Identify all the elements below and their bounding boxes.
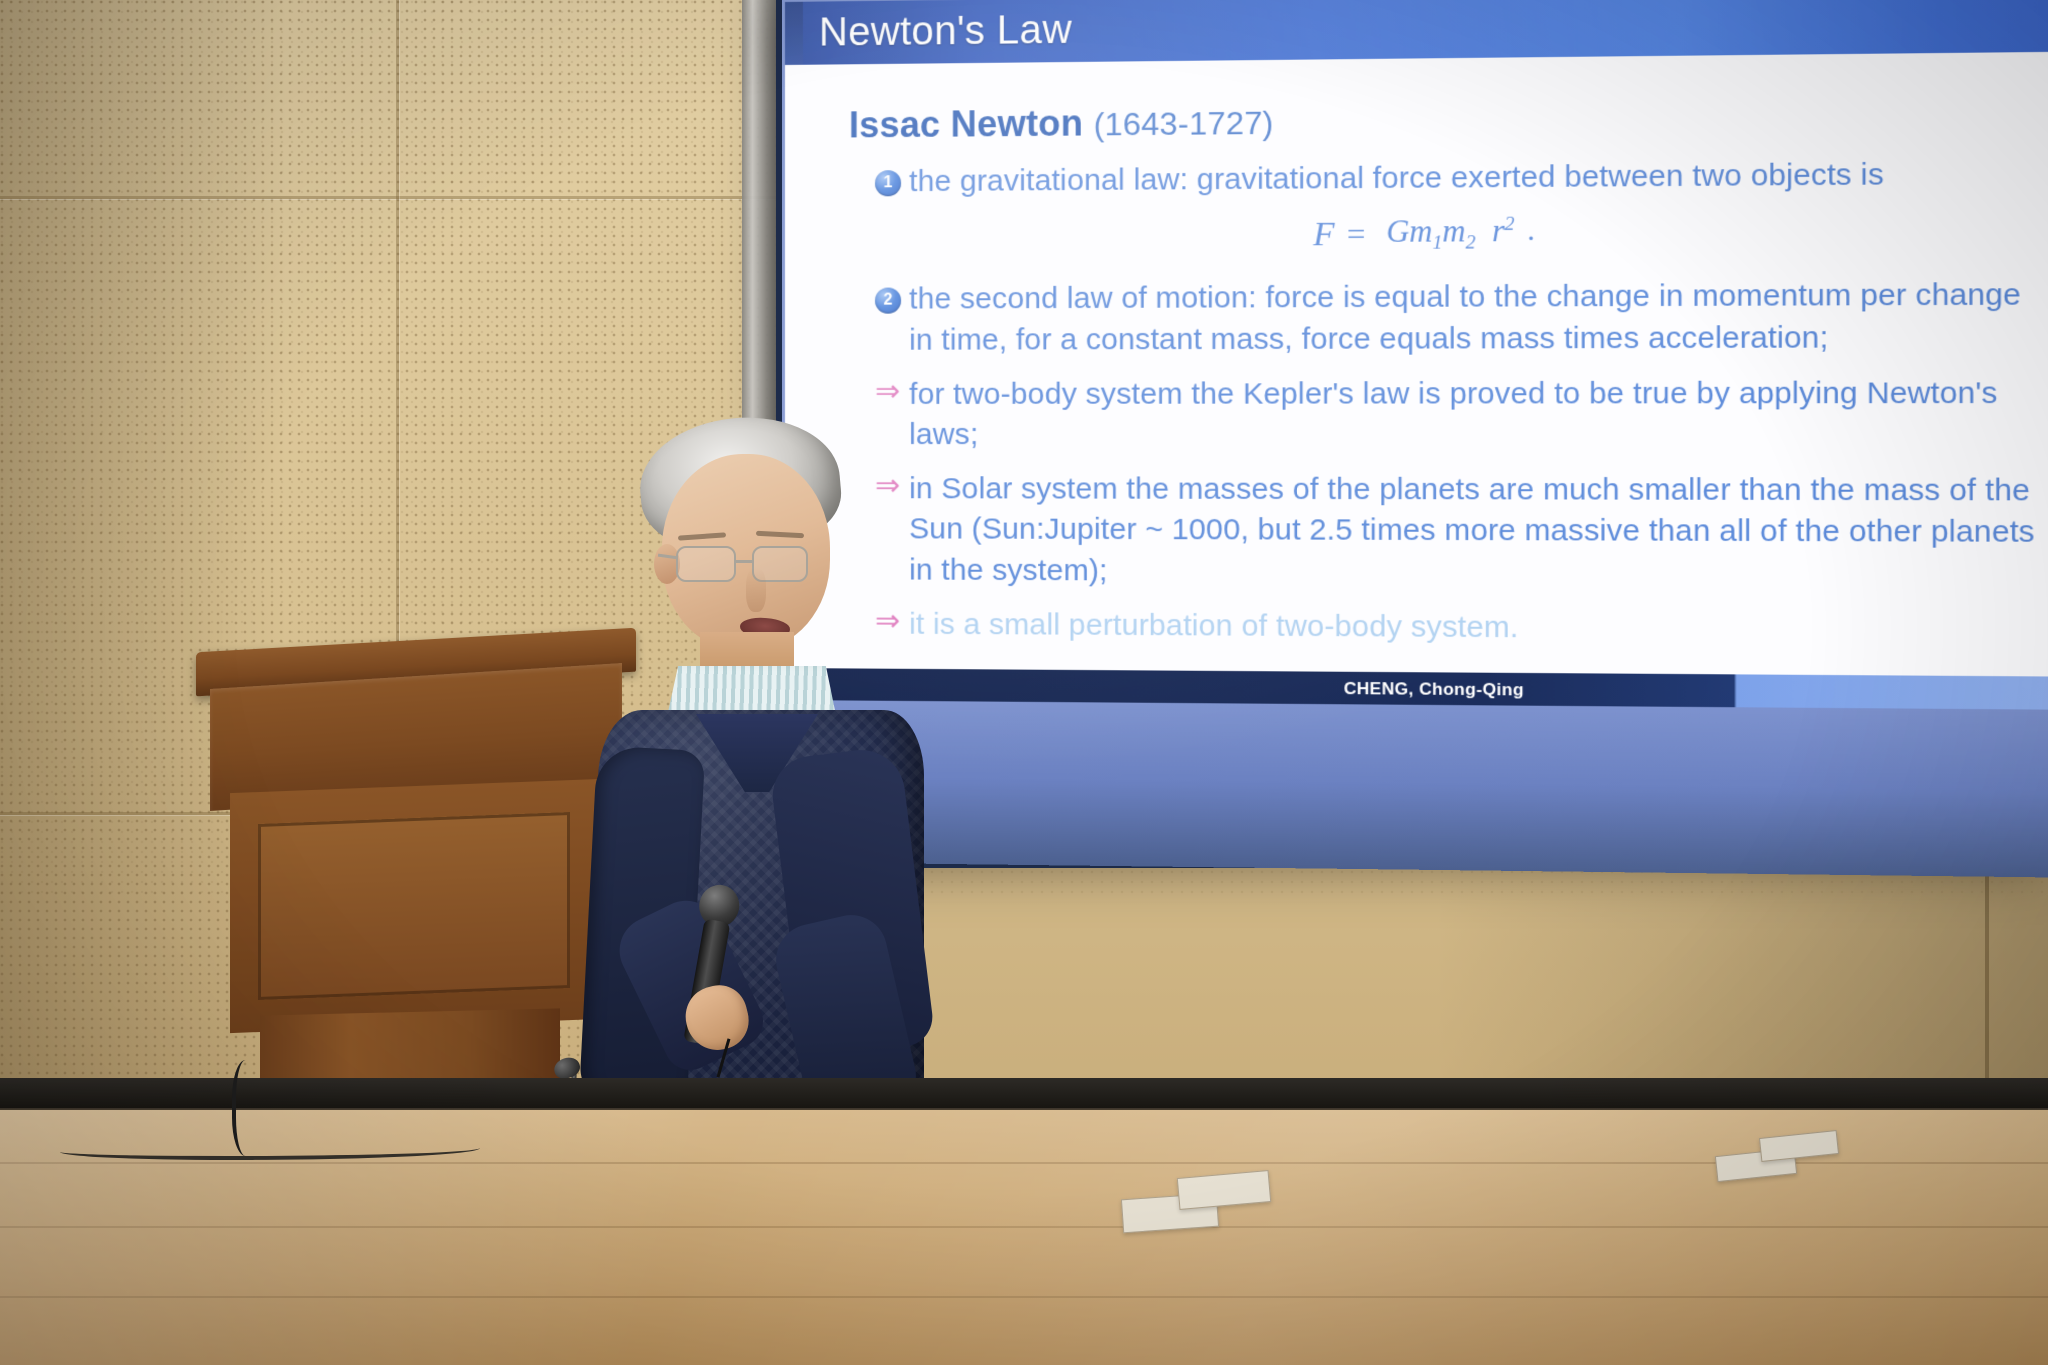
- numbered-bullet-marker: 1: [875, 162, 909, 203]
- list-item-text: it is a small perturbation of two-body s…: [909, 604, 2037, 651]
- projection-screen: Newton's Law Issac Newton (1643-1727) 1 …: [782, 0, 2048, 878]
- list-item: 2 the second law of motion: force is equ…: [875, 275, 2037, 361]
- glasses-lens-left: [676, 546, 736, 582]
- list-item-text: the second law of motion: force is equal…: [909, 275, 2037, 360]
- formula-lhs: F: [1313, 215, 1334, 254]
- newton-name: Issac Newton: [849, 102, 1083, 145]
- presenter-name: CHENG, Chong-Qing: [1344, 679, 1524, 701]
- list-item: ⇒ it is a small perturbation of two-body…: [875, 604, 2037, 651]
- formula-denominator: r2: [1486, 213, 1521, 249]
- gravitation-formula: F = Gm1m2 r2 .: [831, 210, 2037, 259]
- podium-front-panel: [258, 812, 570, 1000]
- numbered-bullet-marker: 2: [875, 280, 909, 361]
- stage-baseboard: [0, 1078, 2048, 1112]
- list-item-text: the gravitational law: gravitational for…: [909, 154, 2037, 203]
- formula-num-sub-1: 1: [1432, 233, 1442, 254]
- formula-equals: =: [1347, 216, 1366, 254]
- lecture-hall-photo: Newton's Law Issac Newton (1643-1727) 1 …: [0, 0, 2048, 1365]
- list-item: 1 the gravitational law: gravitational f…: [875, 154, 2037, 203]
- bullet-number-1: 1: [875, 170, 901, 196]
- formula-den-exponent: 2: [1505, 213, 1515, 234]
- bullet-number-2: 2: [875, 288, 901, 314]
- podium-cable: [232, 1060, 266, 1156]
- wall-seam-horizontal-upper: [0, 196, 790, 199]
- slide-title: Newton's Law: [785, 8, 1072, 56]
- formula-num-G-m: Gm: [1386, 213, 1432, 249]
- list-item: ⇒ for two-body system the Kepler's law i…: [875, 373, 2037, 456]
- double-arrow-right-icon: ⇒: [875, 375, 900, 408]
- formula-den-r: r: [1492, 213, 1505, 249]
- presentation-slide: Newton's Law Issac Newton (1643-1727) 1 …: [785, 0, 2048, 712]
- list-item-text: for two-body system the Kepler's law is …: [909, 373, 2037, 456]
- formula-trailing-punctuation: .: [1527, 214, 1535, 255]
- screen-lower-blank-area: [782, 700, 2048, 878]
- formula-num-m: m: [1442, 213, 1465, 249]
- slide-title-bar-tab: [785, 2, 803, 65]
- glasses-bridge: [736, 560, 754, 563]
- slide-heading: Issac Newton (1643-1727): [849, 93, 2037, 146]
- formula-fraction: Gm1m2 r2: [1380, 213, 1521, 256]
- list-item: ⇒ in Solar system the masses of the plan…: [875, 469, 2037, 595]
- formula-numerator: Gm1m2: [1380, 213, 1482, 249]
- nose: [746, 568, 766, 612]
- formula-num-sub-2: 2: [1466, 233, 1476, 254]
- newton-lifespan: (1643-1727): [1094, 105, 1274, 143]
- slide-body: Issac Newton (1643-1727) 1 the gravitati…: [785, 52, 2048, 652]
- list-item-text: in Solar system the masses of the planet…: [909, 469, 2037, 595]
